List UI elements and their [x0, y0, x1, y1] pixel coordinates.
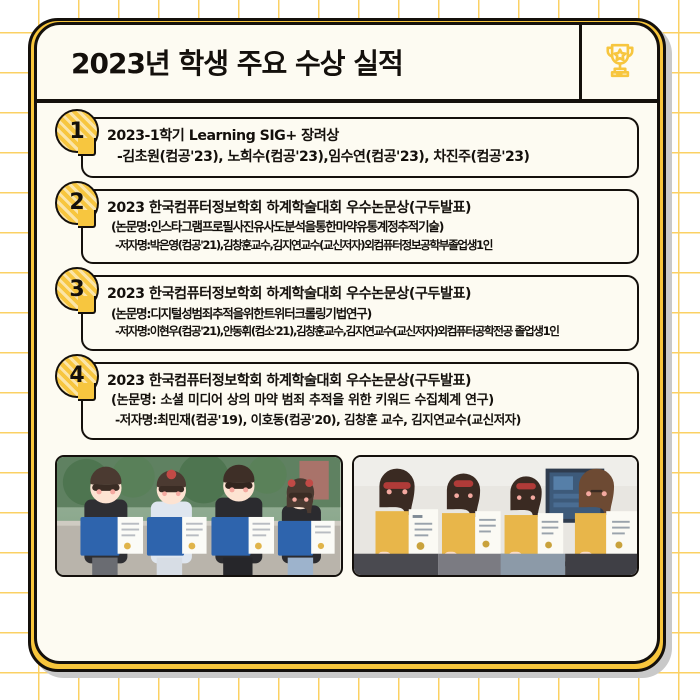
award-authors-3: -저자명:이현우(컴공'21),안동휘(컴소'21),김창훈교수,김지연교수(교… [107, 323, 627, 340]
award-title-3: 2023 한국컴퓨터정보학회 하계학술대회 우수논문상(구두발표) [107, 284, 627, 305]
award-item-2: 2 2023 한국컴퓨터정보학회 하계학술대회 우수논문상(구두발표) (논문명… [55, 189, 639, 265]
award-box-3: 2023 한국컴퓨터정보학회 하계학술대회 우수논문상(구두발표) (논문명:디… [81, 275, 639, 351]
trophy-icon [599, 39, 641, 85]
trophy-icon-container [579, 25, 657, 99]
award-authors-2: -저자명:박은영(컴공'21),김창훈교수,김지연교수(교신저자)외컴퓨터정보공… [107, 237, 627, 254]
award-item-1: 1 2023-1학기 Learning SIG+ 장려상 -김초원(컴공'23)… [55, 117, 639, 178]
award-item-4: 4 2023 한국컴퓨터정보학회 하계학술대회 우수논문상(구두발표) (논문명… [55, 362, 639, 440]
page-title: 2023년 학생 주요 수상 실적 [37, 42, 579, 82]
award-number-badge-3: 3 [55, 267, 99, 311]
award-number-badge-4: 4 [55, 354, 99, 398]
award-paper-2: (논문명:인스타그램프로필사진유사도분석을통한마약유통계정추적기술) [107, 218, 627, 237]
award-card: 2023년 학생 주요 수상 실적 1 2023-1학기 Learnin [34, 22, 660, 664]
award-box-1: 2023-1학기 Learning SIG+ 장려상 -김초원(컴공'23), … [81, 117, 639, 178]
card-header: 2023년 학생 주요 수상 실적 [37, 25, 657, 103]
award-authors-1: -김초원(컴공'23), 노희수(컴공'23),임수연(컴공'23), 차진주(… [107, 147, 627, 168]
award-paper-3: (논문명:디지털성범죄추적을위한트위터크롤링기법연구) [107, 305, 627, 324]
award-photo-outdoor [55, 455, 343, 577]
photo-row [37, 451, 657, 577]
award-title-2: 2023 한국컴퓨터정보학회 하계학술대회 우수논문상(구두발표) [107, 198, 627, 219]
award-paper-4: (논문명: 소셜 미디어 상의 마약 범죄 추적을 위한 키워드 수집체계 연구… [107, 391, 627, 411]
award-photo-indoor [352, 455, 640, 577]
award-number-badge-1: 1 [55, 109, 99, 153]
award-authors-4: -저자명:최민재(컴공'19), 이호동(컴공'20), 김창훈 교수, 김지연… [107, 411, 627, 430]
award-title-4: 2023 한국컴퓨터정보학회 하계학술대회 우수논문상(구두발표) [107, 371, 627, 392]
award-number-badge-2: 2 [55, 181, 99, 225]
award-title-1: 2023-1학기 Learning SIG+ 장려상 [107, 126, 627, 147]
award-list: 1 2023-1학기 Learning SIG+ 장려상 -김초원(컴공'23)… [37, 103, 657, 440]
award-box-4: 2023 한국컴퓨터정보학회 하계학술대회 우수논문상(구두발표) (논문명: … [81, 362, 639, 440]
award-box-2: 2023 한국컴퓨터정보학회 하계학술대회 우수논문상(구두발표) (논문명:인… [81, 189, 639, 265]
award-item-3: 3 2023 한국컴퓨터정보학회 하계학술대회 우수논문상(구두발표) (논문명… [55, 275, 639, 351]
